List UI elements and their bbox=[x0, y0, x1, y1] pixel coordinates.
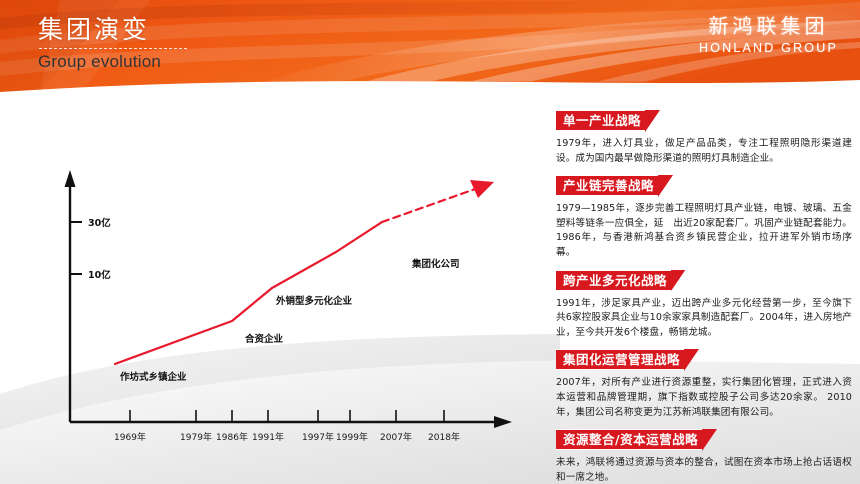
strategy-body: 1979—1985年，逐步完善工程照明灯具产业链，电镀、玻璃、五金塑料等链条一应… bbox=[556, 202, 852, 260]
x-tick-label-2: 1986年 bbox=[216, 431, 248, 443]
strategy-heading-wrap: 资源整合/资本运营战略 bbox=[556, 429, 852, 451]
strategy-body: 未来，鸿联将通过资源与资本的整合，试图在资本市场上抢占话语权和一席之地。 bbox=[556, 456, 852, 484]
strategy-heading: 单一产业战略 bbox=[556, 110, 645, 131]
strategy-heading-wrap: 产业链完善战略 bbox=[556, 175, 852, 197]
strategy-heading: 集团化运营管理战略 bbox=[556, 349, 684, 370]
strategy-section: 资源整合/资本运营战略 未来，鸿联将通过资源与资本的整合，试图在资本市场上抢占话… bbox=[556, 429, 852, 484]
strategy-section: 产业链完善战略 1979—1985年，逐步完善工程照明灯具产业链，电镀、玻璃、五… bbox=[556, 175, 852, 260]
y-axis bbox=[65, 170, 83, 422]
x-tick-label-4: 1997年 bbox=[302, 431, 334, 443]
strategy-heading-wrap: 集团化运营管理战略 bbox=[556, 349, 852, 371]
x-tick-label-1: 1979年 bbox=[180, 431, 212, 443]
header-title-block: 集团演变 Group evolution bbox=[38, 14, 187, 72]
title-divider bbox=[39, 48, 187, 49]
chart-annotation-3: 集团化公司 bbox=[411, 258, 460, 270]
chart-line-projection bbox=[382, 188, 478, 222]
y-tick-label-1: 30亿 bbox=[88, 217, 111, 229]
evolution-chart: 30亿 10亿 1969年 1979年 1986年 1991年 1997年 19… bbox=[0, 92, 540, 484]
strategy-body: 2007年，对所有产业进行资源重整，实行集团化管理，正式进入资本运营和品牌管理期… bbox=[556, 376, 852, 420]
strategy-section: 跨产业多元化战略 1991年，涉足家具产业，迈出跨产业多元化经营第一步，至今旗下… bbox=[556, 270, 852, 341]
logo-text-cn: 新鸿联集团 bbox=[699, 14, 838, 38]
strategy-heading: 产业链完善战略 bbox=[556, 175, 658, 196]
strategy-heading: 跨产业多元化战略 bbox=[556, 270, 671, 291]
strategy-body: 1979年，进入灯具业，做足产品品类，专注工程照明隐形渠道建设。成为国内最早做隐… bbox=[556, 137, 852, 166]
strategy-section: 单一产业战略 1979年，进入灯具业，做足产品品类，专注工程照明隐形渠道建设。成… bbox=[556, 110, 852, 166]
slide-canvas: 集团演变 Group evolution 新鸿联集团 HONLAND GROUP bbox=[0, 0, 860, 484]
strategy-body: 1991年，涉足家具产业，迈出跨产业多元化经营第一步，至今旗下共6家控股家具企业… bbox=[556, 297, 852, 341]
x-tick-label-7: 2018年 bbox=[428, 431, 460, 443]
chart-annotation-1: 合资企业 bbox=[245, 333, 284, 345]
chart-annotation-0: 作坊式乡镇企业 bbox=[120, 371, 187, 383]
strategy-heading: 资源整合/资本运营战略 bbox=[556, 429, 702, 450]
x-tick-label-3: 1991年 bbox=[252, 431, 284, 443]
page-title-en: Group evolution bbox=[38, 51, 187, 72]
strategy-section: 集团化运营管理战略 2007年，对所有产业进行资源重整，实行集团化管理，正式进入… bbox=[556, 349, 852, 420]
x-tick-label-5: 1999年 bbox=[336, 431, 368, 443]
strategy-panel: 单一产业战略 1979年，进入灯具业，做足产品品类，专注工程照明隐形渠道建设。成… bbox=[556, 110, 852, 484]
chart-annotation-2: 外销型多元化企业 bbox=[275, 295, 353, 307]
y-tick-label-0: 10亿 bbox=[88, 269, 111, 281]
logo-text-en: HONLAND GROUP bbox=[699, 40, 838, 56]
y-axis-arrow-head bbox=[65, 170, 76, 187]
strategy-heading-wrap: 跨产业多元化战略 bbox=[556, 270, 852, 292]
x-tick-label-0: 1969年 bbox=[114, 431, 146, 443]
x-axis-arrow-head bbox=[494, 416, 512, 428]
x-tick-label-6: 2007年 bbox=[380, 431, 412, 443]
page-title-cn: 集团演变 bbox=[38, 14, 187, 45]
company-logo: 新鸿联集团 HONLAND GROUP bbox=[699, 14, 838, 56]
strategy-heading-wrap: 单一产业战略 bbox=[556, 110, 852, 132]
chart-svg: 30亿 10亿 1969年 1979年 1986年 1991年 1997年 19… bbox=[0, 92, 540, 484]
slide-header: 集团演变 Group evolution 新鸿联集团 HONLAND GROUP bbox=[0, 0, 860, 92]
x-axis bbox=[70, 410, 512, 428]
chart-line-series bbox=[115, 180, 494, 364]
